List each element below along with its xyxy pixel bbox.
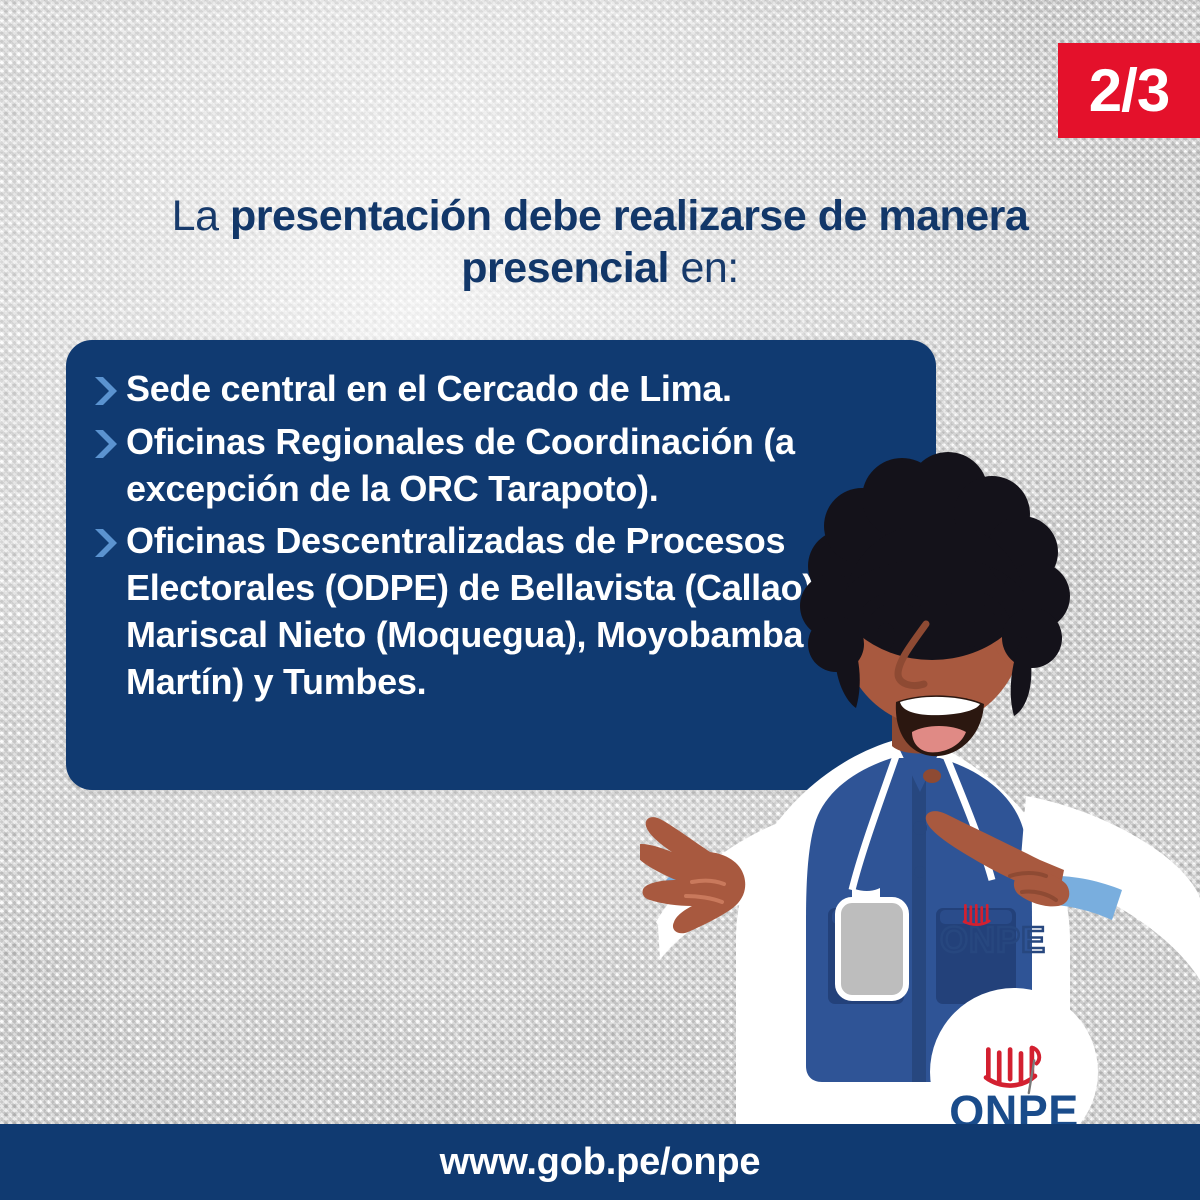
open-palm-hand xyxy=(640,817,745,933)
chin-dimple xyxy=(923,769,941,783)
page-title: La presentación debe realizarse de maner… xyxy=(120,190,1080,295)
chevron-right-icon xyxy=(92,427,122,461)
vest-zipper xyxy=(912,758,926,1082)
headline-lead: La xyxy=(172,192,230,240)
vest-onpe-wordmark: ONPE xyxy=(940,919,1046,960)
page-counter-label: 2/3 xyxy=(1089,61,1169,121)
chevron-right-icon xyxy=(92,374,122,408)
headline-tail: en: xyxy=(669,244,739,292)
footer-url[interactable]: www.gob.pe/onpe xyxy=(440,1141,761,1184)
id-badge-card xyxy=(838,900,906,998)
page-counter-badge: 2/3 xyxy=(1058,43,1200,138)
eye-right xyxy=(963,621,981,647)
vest-button-1 xyxy=(913,821,927,835)
vest-button-2 xyxy=(914,866,926,878)
eye-left xyxy=(877,623,895,649)
headline-emphasis: presentación debe realizarse de manera p… xyxy=(230,192,1028,292)
poster-root: 2/3 La presentación debe realizarse de m… xyxy=(0,0,1200,1200)
footer-bar: www.gob.pe/onpe xyxy=(0,1124,1200,1200)
chevron-right-icon xyxy=(92,526,122,560)
list-item-label: Sede central en el Cercado de Lima. xyxy=(126,366,732,413)
onpe-staff-illustration: ONPE xyxy=(640,440,1200,1140)
list-item: Sede central en el Cercado de Lima. xyxy=(92,366,922,413)
